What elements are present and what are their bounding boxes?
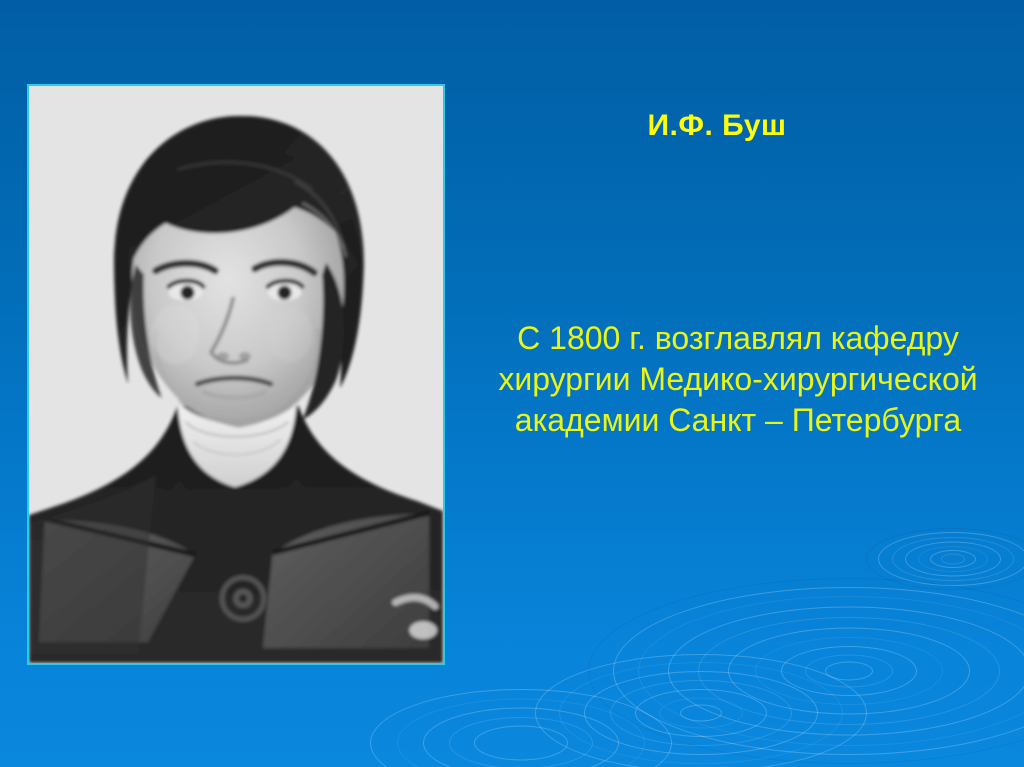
slide-canvas: И.Ф. Буш С 1800 г. возглавлял кафедру хи… — [0, 0, 1024, 767]
ripple-ring — [610, 680, 792, 746]
water-ripple-icon-medium — [700, 712, 701, 713]
ripple-ring — [755, 637, 943, 705]
ripple-ring — [728, 627, 970, 714]
ripple-ring — [449, 717, 593, 767]
ripple-ring — [635, 689, 767, 737]
ripple-ring — [781, 646, 917, 696]
ripple-ring — [930, 550, 976, 568]
ripple-ring — [584, 671, 818, 755]
ripple-ring — [423, 707, 619, 767]
water-ripple-icon-left — [520, 742, 521, 743]
portrait-photo — [27, 84, 445, 665]
ripple-ring — [941, 553, 965, 564]
body-container: С 1800 г. возглавлял кафедру хирургии Ме… — [452, 318, 1024, 441]
ripple-ring — [659, 697, 743, 728]
ripple-ring — [878, 532, 1024, 586]
ripple-ring — [668, 606, 1024, 735]
ripple-ring — [866, 528, 1024, 590]
title-container: И.Ф. Буш — [470, 108, 964, 144]
ripple-ring — [474, 725, 568, 760]
body-line-1: С 1800 г. возглавлял кафедру — [452, 318, 1024, 359]
ripple-ring — [559, 662, 843, 764]
ripple-ring — [638, 596, 1024, 746]
ripple-ring — [535, 654, 867, 767]
water-ripple-icon-large — [848, 670, 849, 671]
body-paragraph: С 1800 г. возглавлял кафедру хирургии Ме… — [452, 318, 1024, 441]
ripple-ring — [892, 537, 1014, 581]
ripple-ring — [588, 578, 1024, 764]
page-title: И.Ф. Буш — [470, 108, 964, 144]
ripple-ring — [613, 587, 1024, 755]
ripple-ring — [825, 661, 873, 680]
ripple-ring — [905, 541, 1001, 576]
portrait-illustration — [29, 86, 443, 663]
ripple-ring — [805, 654, 893, 687]
ripple-ring — [918, 546, 988, 572]
ripple-ring — [397, 698, 645, 767]
body-line-3: академии Санкт – Петербурга — [452, 400, 1024, 441]
water-ripple-icon-small — [952, 558, 953, 559]
body-line-2: хирургии Медико-хирургической — [452, 359, 1024, 400]
ripple-ring — [698, 617, 1000, 725]
ripple-ring — [370, 689, 672, 767]
ripple-ring — [680, 704, 722, 721]
